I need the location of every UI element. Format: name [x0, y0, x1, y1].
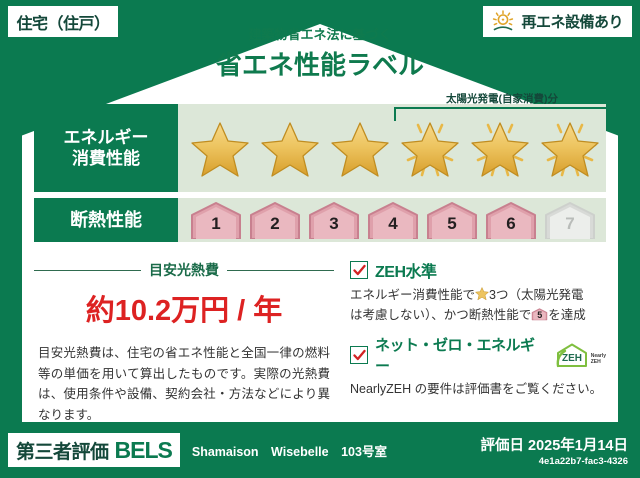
zeh-standard-item: ZEH水準 エネルギー消費性能で3つ（太陽光発電は考慮しない）、かつ断熱性能で5…: [350, 258, 606, 325]
inline-insulation-badge-icon: 5: [531, 307, 548, 321]
zeh-house-logo-icon: ZEH NearlyZEH: [555, 342, 606, 368]
cost-note: 目安光熱費は、住宅の省エネ性能と全国一律の燃料等の単価を用いて算出したものです。…: [34, 343, 334, 426]
insulation-level-7: 7: [542, 201, 598, 239]
insulation-level-1: 1: [188, 201, 244, 239]
zeh-standard-title-row: ZEH水準: [350, 258, 606, 282]
zeh-desc-part3: を達成: [548, 308, 586, 322]
cost-amount: 約10.2万円 / 年: [34, 287, 334, 329]
energy-performance-row: エネルギー 消費性能: [34, 104, 606, 192]
insulation-performance-label: 断熱性能: [34, 198, 178, 242]
zeh-desc-star-text: 3つ（太陽光発電: [489, 288, 583, 302]
performance-block: エネルギー 消費性能: [34, 104, 606, 248]
energy-label-root: 住宅（住戸） 再エネ設備あり 建築物省エネ法: [0, 0, 640, 478]
cost-heading-rule-left: [34, 270, 141, 271]
cost-heading-label: 目安光熱費: [149, 260, 219, 280]
insulation-level-4: 4: [365, 201, 421, 239]
category-tag-label: 住宅（住戸）: [16, 10, 109, 34]
cost-heading: 目安光熱費: [34, 260, 334, 280]
star-3: [326, 115, 394, 181]
sun-renewable-icon: [490, 10, 516, 34]
insulation-level-6-label: 6: [506, 214, 515, 239]
inline-badge-label: 5: [531, 307, 548, 321]
building-name: Shamaison Wisebelle 103号室: [192, 441, 387, 460]
inline-star-icon: [475, 287, 489, 301]
insulation-level-scale: 1 2 3 4: [178, 201, 598, 239]
bels-jp-label: 第三者評価: [16, 437, 109, 464]
star-6-solar: [536, 115, 604, 181]
check-icon: [350, 261, 368, 279]
zeh-desc-part2: は考慮しない）、かつ断熱性能で: [350, 308, 531, 322]
svg-text:ZEH: ZEH: [562, 353, 582, 364]
renewable-tag-label: 再エネ設備あり: [521, 11, 623, 32]
zeh-standard-title: ZEH水準: [375, 258, 437, 282]
solar-bracket-caption: 太陽光発電(自家消費)分: [394, 91, 610, 106]
star-5-solar: [466, 115, 534, 181]
lower-section: 目安光熱費 約10.2万円 / 年 目安光熱費は、住宅の省エネ性能と全国一律の燃…: [34, 258, 606, 408]
insulation-level-4-label: 4: [388, 214, 397, 239]
energy-performance-label: エネルギー 消費性能: [34, 104, 178, 192]
energy-performance-value: 太陽光発電(自家消費)分: [178, 104, 606, 192]
bels-badge: 第三者評価 BELS: [8, 433, 180, 467]
insulation-level-2: 2: [247, 201, 303, 239]
evaluation-info: 評価日 2025年1月14日 4e1a22b7-fac3-4326: [481, 434, 628, 467]
zeh-desc-part1: エネルギー消費性能で: [350, 288, 475, 302]
solar-bracket: [394, 107, 614, 121]
insulation-level-3: 3: [306, 201, 362, 239]
bels-en-label: BELS: [115, 437, 172, 464]
net-zero-energy-item: ネット・ゼロ・エネルギー ZEH NearlyZEH NearlyZEH の要件…: [350, 334, 606, 399]
star-1: [186, 115, 254, 181]
renewable-equipment-tag: 再エネ設備あり: [483, 6, 632, 37]
insulation-level-5: 5: [424, 201, 480, 239]
insulation-level-3-label: 3: [329, 214, 338, 239]
star-rating: [178, 115, 604, 181]
insulation-performance-value: 1 2 3 4: [178, 198, 606, 242]
footer: 第三者評価 BELS Shamaison Wisebelle 103号室 評価日…: [0, 422, 640, 478]
insulation-performance-row: 断熱性能 1 2 3: [34, 198, 606, 242]
evaluation-date: 評価日 2025年1月14日: [481, 434, 628, 455]
cost-section: 目安光熱費 約10.2万円 / 年 目安光熱費は、住宅の省エネ性能と全国一律の燃…: [34, 258, 334, 408]
check-icon: [350, 346, 368, 364]
star-4-solar: [396, 115, 464, 181]
net-zero-description: NearlyZEH の要件は評価書をご覧ください。: [350, 379, 606, 399]
evaluation-id: 4e1a22b7-fac3-4326: [481, 456, 628, 467]
cost-heading-rule-right: [227, 270, 334, 271]
zeh-section: ZEH水準 エネルギー消費性能で3つ（太陽光発電は考慮しない）、かつ断熱性能で5…: [334, 258, 606, 408]
insulation-level-6: 6: [483, 201, 539, 239]
zeh-logo-subtext: NearlyZEH: [591, 354, 606, 368]
zeh-logo-sub2: ZEH: [591, 359, 601, 365]
insulation-level-5-label: 5: [447, 214, 456, 239]
insulation-level-2-label: 2: [270, 214, 279, 239]
insulation-level-1-label: 1: [211, 214, 220, 239]
zeh-standard-description: エネルギー消費性能で3つ（太陽光発電は考慮しない）、かつ断熱性能で5を達成: [350, 285, 606, 325]
insulation-level-7-label: 7: [565, 214, 574, 239]
category-tag: 住宅（住戸）: [8, 6, 118, 37]
net-zero-title-row: ネット・ゼロ・エネルギー ZEH NearlyZEH: [350, 334, 606, 376]
net-zero-title: ネット・ゼロ・エネルギー: [375, 334, 544, 376]
star-2: [256, 115, 324, 181]
